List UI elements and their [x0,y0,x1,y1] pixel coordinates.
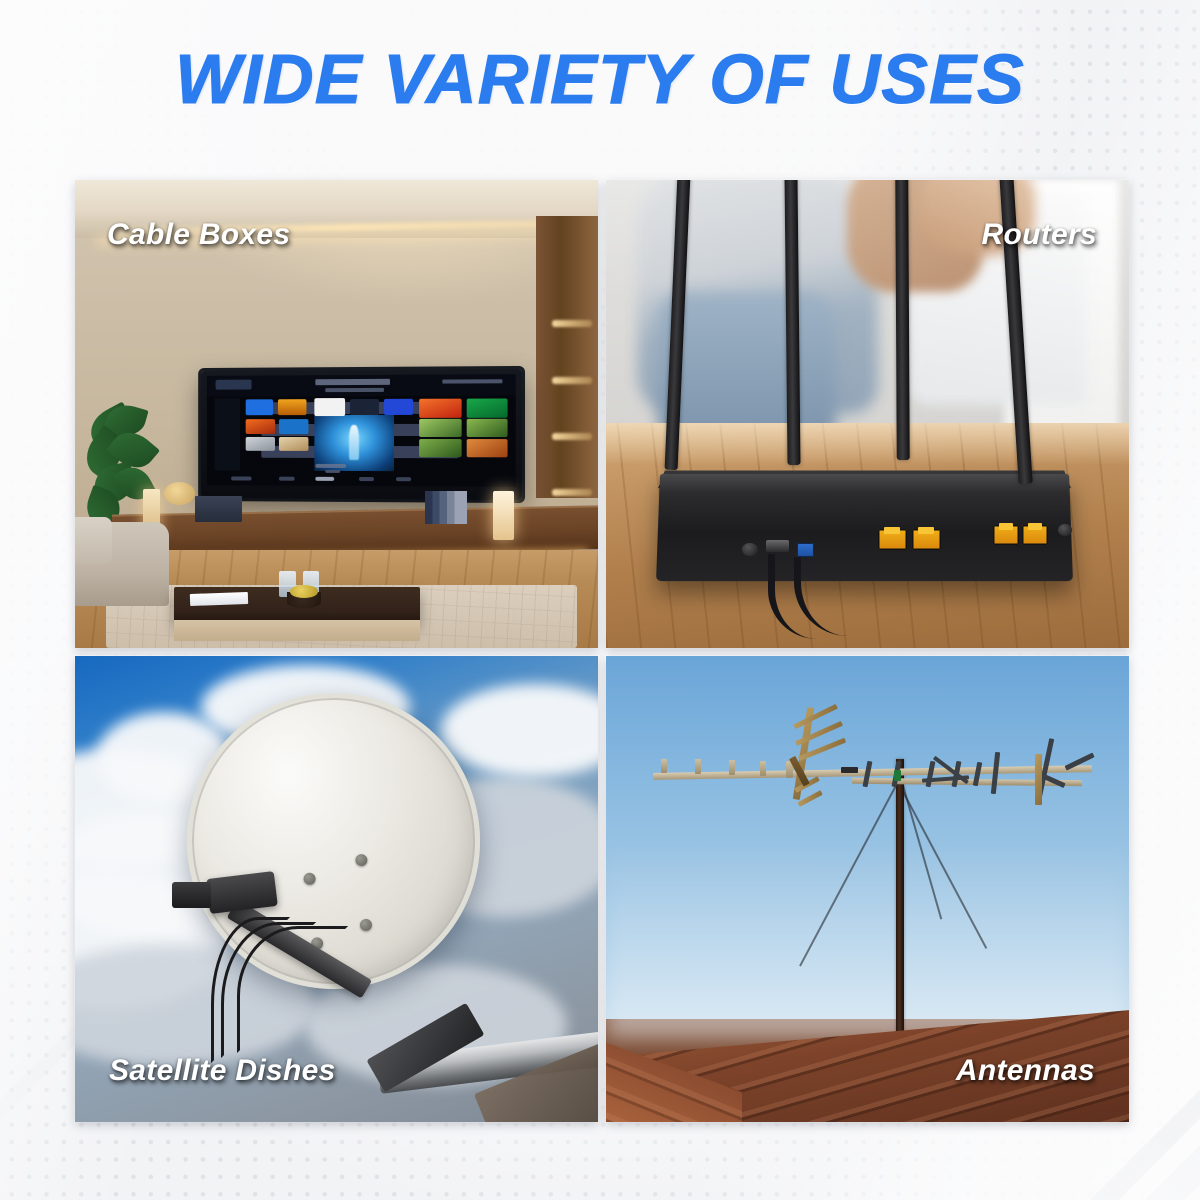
panel-antennas[interactable]: Antennas [606,656,1129,1122]
panel-caption-cable-boxes: Cable Boxes [107,218,290,252]
satellite-dish-photo [75,656,598,1122]
antenna-photo [606,656,1129,1122]
page-title: WIDE VARIETY OF USES [0,42,1200,116]
router-antenna [896,180,911,461]
uses-grid: Cable Boxes [75,180,1126,1122]
panel-routers[interactable]: Routers [606,180,1129,648]
wall-mounted-tv [201,369,521,500]
panel-caption-routers: Routers [982,218,1097,252]
panel-caption-antennas: Antennas [956,1054,1095,1088]
panel-satellite-dishes[interactable]: Satellite Dishes [75,656,598,1122]
panel-cable-boxes[interactable]: Cable Boxes [75,180,598,648]
panel-caption-satellite-dishes: Satellite Dishes [109,1054,336,1088]
